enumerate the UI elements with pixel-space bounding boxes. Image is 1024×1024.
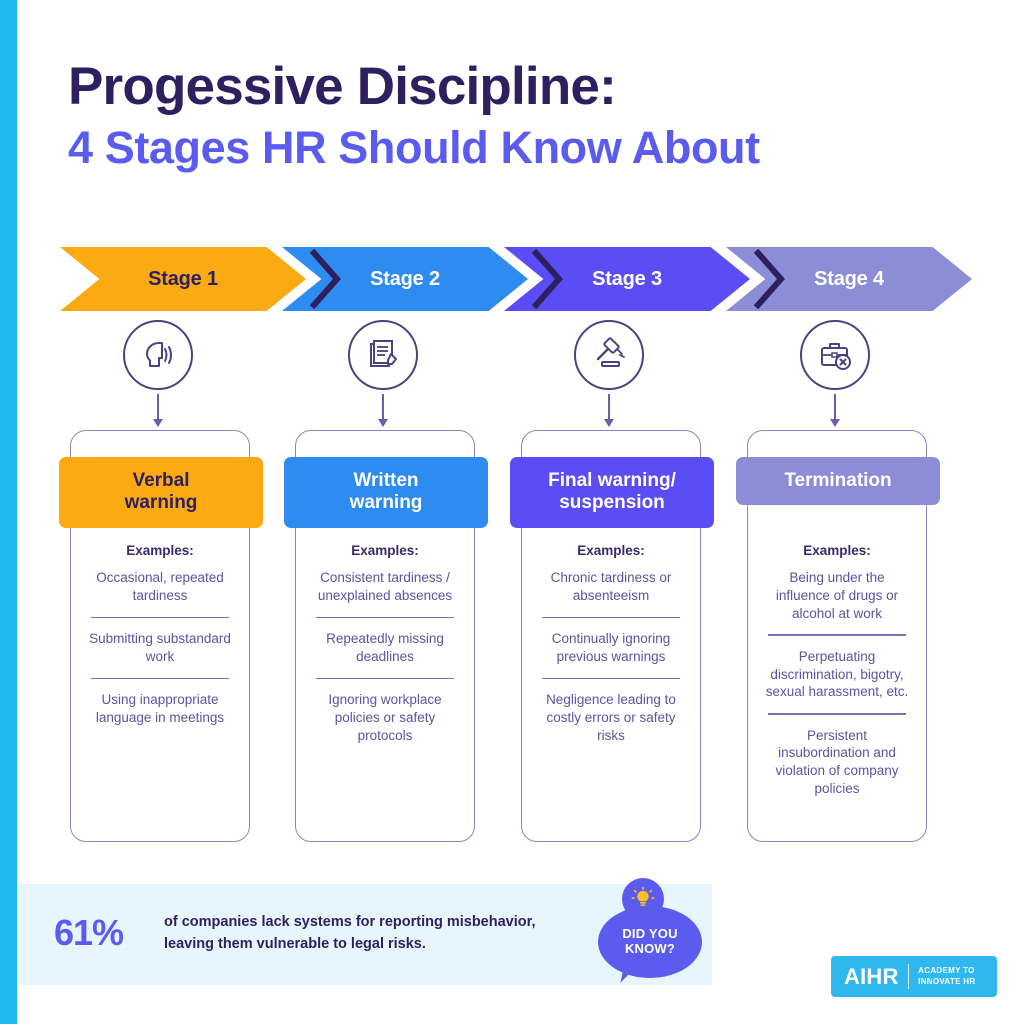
did-you-know-badge: DID YOU KNOW? [596, 880, 706, 988]
connector-arrow [157, 394, 159, 426]
logo-divider [908, 964, 910, 989]
stage-card-body-2: Examples: Consistent tardiness / unexpla… [308, 543, 462, 744]
stage-icon-unit-3 [569, 320, 649, 426]
stage-card-4: Termination Examples: Being under the in… [747, 430, 927, 842]
example-item: Negligence leading to costly errors or s… [534, 691, 688, 744]
stage-card-title-1: Verbalwarning [65, 470, 257, 515]
stage-card-3: Final warning/suspension Examples: Chron… [521, 430, 701, 842]
speaking-head-icon [139, 336, 177, 374]
example-divider [91, 678, 229, 679]
example-item: Persistent insubordination and violation… [760, 727, 914, 798]
stage-arrow-label-2: Stage 2 [370, 268, 440, 291]
left-accent-stripe [0, 0, 17, 1024]
logo-wordmark: AIHR [844, 964, 899, 990]
example-divider [316, 617, 454, 618]
document-pen-icon [364, 336, 402, 374]
lightbulb-circle [622, 878, 664, 920]
example-item: Submitting substandard work [83, 630, 237, 666]
stage-card-header-3: Final warning/suspension [510, 457, 714, 528]
stage-card-header-2: Writtenwarning [284, 457, 488, 528]
example-item: Consistent tardiness / unexplained absen… [308, 569, 462, 605]
stage-arrow-label-3: Stage 3 [592, 268, 662, 291]
example-divider [542, 678, 680, 679]
statistic-text: of companies lack systems for reporting … [164, 912, 564, 956]
logo-tagline-line-2: INNOVATE HR [918, 977, 975, 987]
stage-card-1: Verbalwarning Examples: Occasional, repe… [70, 430, 250, 842]
examples-label-2: Examples: [308, 543, 462, 558]
stage-card-body-3: Examples: Chronic tardiness or absenteei… [534, 543, 688, 744]
stage-card-title-2: Writtenwarning [290, 470, 482, 515]
page-title: Progessive Discipline: 4 Stages HR Shoul… [68, 58, 948, 174]
example-divider [91, 617, 229, 618]
example-item: Being under the influence of drugs or al… [760, 569, 914, 622]
stage-card-body-4: Examples: Being under the influence of d… [760, 543, 914, 798]
stage-card-header-1: Verbalwarning [59, 457, 263, 528]
stage-arrow-strip: Stage 1 Stage 2 Stage 3 Stage 4 [60, 247, 965, 311]
example-item: Continually ignoring previous warnings [534, 630, 688, 666]
stage-icon-unit-2 [343, 320, 423, 426]
stage-card-title-3: Final warning/suspension [516, 470, 708, 515]
example-item: Chronic tardiness or absenteeism [534, 569, 688, 605]
icon-circle [800, 320, 870, 390]
connector-arrow [834, 394, 836, 426]
icon-circle [574, 320, 644, 390]
example-divider [768, 713, 906, 714]
stage-card-body-1: Examples: Occasional, repeated tardiness… [83, 543, 237, 727]
stage-icon-unit-1 [118, 320, 198, 426]
title-line-1: Progessive Discipline: [68, 58, 948, 115]
stage-card-title-4: Termination [742, 470, 934, 492]
example-divider [542, 617, 680, 618]
example-item: Ignoring workplace policies or safety pr… [308, 691, 462, 744]
statistic-percent: 61% [54, 912, 123, 954]
lightbulb-icon [630, 886, 656, 912]
briefcase-x-icon [816, 336, 854, 374]
statistic-bar: 61% of companies lack systems for report… [18, 884, 712, 985]
example-item: Occasional, repeated tardiness [83, 569, 237, 605]
logo-tagline: ACADEMY TO INNOVATE HR [918, 966, 975, 987]
logo-tagline-line-1: ACADEMY TO [918, 966, 975, 976]
stage-card-2: Writtenwarning Examples: Consistent tard… [295, 430, 475, 842]
example-item: Perpetuating discrimination, bigotry, se… [760, 648, 914, 701]
stage-card-header-4: Termination [736, 457, 940, 505]
examples-label-4: Examples: [760, 543, 914, 558]
stage-arrow-label-1: Stage 1 [148, 268, 218, 291]
stage-icon-row [60, 320, 965, 432]
title-line-2: 4 Stages HR Should Know About [68, 123, 948, 173]
chevron-separator-1-icon [309, 249, 343, 309]
icon-circle [123, 320, 193, 390]
example-divider [316, 678, 454, 679]
did-you-know-line-1: DID YOU [622, 927, 677, 942]
example-divider [768, 634, 906, 635]
example-item: Using inappropriate language in meetings [83, 691, 237, 727]
did-you-know-line-2: KNOW? [625, 942, 675, 957]
example-item: Repeatedly missing deadlines [308, 630, 462, 666]
examples-label-1: Examples: [83, 543, 237, 558]
stage-icon-unit-4 [795, 320, 875, 426]
icon-circle [348, 320, 418, 390]
connector-arrow [608, 394, 610, 426]
aihr-logo[interactable]: AIHR ACADEMY TO INNOVATE HR [831, 956, 997, 997]
chevron-separator-2-icon [531, 249, 565, 309]
connector-arrow [382, 394, 384, 426]
chevron-separator-3-icon [753, 249, 787, 309]
stage-arrow-label-4: Stage 4 [814, 268, 884, 291]
gavel-icon [590, 336, 628, 374]
examples-label-3: Examples: [534, 543, 688, 558]
stage-arrow-1[interactable]: Stage 1 [60, 247, 306, 311]
stage-cards: Verbalwarning Examples: Occasional, repe… [60, 430, 965, 842]
